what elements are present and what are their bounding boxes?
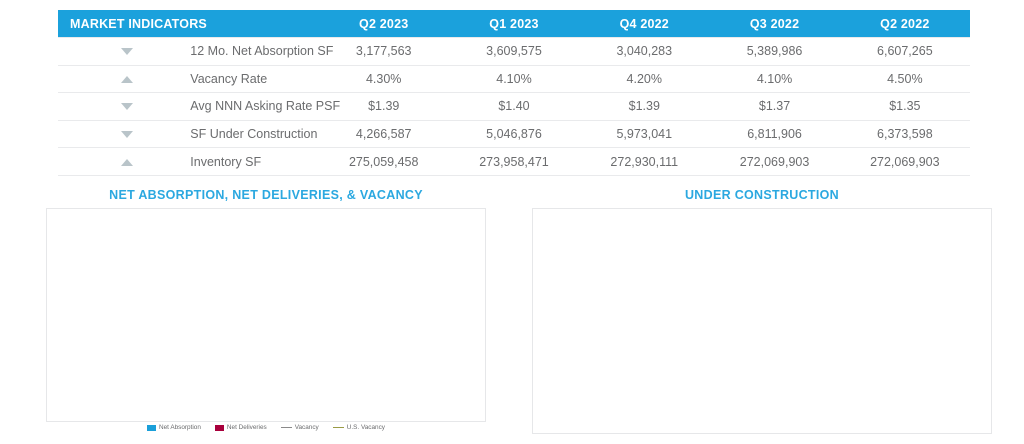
- row-value: 4.20%: [579, 65, 709, 93]
- legend-swatch-net-absorption: [147, 425, 156, 431]
- legend-line-us-vacancy: [333, 427, 344, 428]
- legend-label-us-vacancy: U.S. Vacancy: [347, 424, 385, 431]
- row-value: $1.39: [579, 93, 709, 121]
- chart-title-under-construction: UNDER CONSTRUCTION: [532, 188, 992, 202]
- under-construction-chart-panel: UNDER CONSTRUCTION 7,000,0006,000,0005,0…: [532, 188, 992, 436]
- row-value: 5,046,876: [449, 120, 579, 148]
- legend-item-net-absorption: Net Absorption: [147, 424, 201, 431]
- report-page: MARKET INDICATORS Q2 2023 Q1 2023 Q4 202…: [0, 0, 1024, 444]
- table-header-row: MARKET INDICATORS Q2 2023 Q1 2023 Q4 202…: [58, 10, 970, 38]
- legend-line-vacancy: [281, 427, 292, 428]
- legend-item-us-vacancy: U.S. Vacancy: [333, 424, 385, 431]
- row-value: 3,040,283: [579, 38, 709, 66]
- net-absorption-chart-panel: NET ABSORPTION, NET DELIVERIES, & VACANC…: [46, 188, 486, 440]
- trend-down-icon: [58, 38, 188, 66]
- row-label: Avg NNN Asking Rate PSF: [188, 93, 318, 121]
- row-value: 273,958,471: [449, 148, 579, 176]
- row-value: 4.10%: [449, 65, 579, 93]
- market-indicators-table: MARKET INDICATORS Q2 2023 Q1 2023 Q4 202…: [58, 10, 970, 176]
- row-value: 6,373,598: [840, 120, 970, 148]
- table-body: 12 Mo. Net Absorption SF3,177,5633,609,5…: [58, 38, 970, 176]
- column-header-q4-2022: Q4 2022: [579, 10, 709, 38]
- row-value: 4.30%: [319, 65, 449, 93]
- row-label: Inventory SF: [188, 148, 318, 176]
- chart-legend-left: Net Absorption Net Deliveries Vacancy U.…: [46, 424, 486, 431]
- table-row: SF Under Construction4,266,5875,046,8765…: [58, 120, 970, 148]
- row-value: $1.37: [709, 93, 839, 121]
- column-header-indicators: MARKET INDICATORS: [58, 10, 319, 38]
- row-value: 5,973,041: [579, 120, 709, 148]
- row-value: 4.50%: [840, 65, 970, 93]
- trend-down-icon: [58, 120, 188, 148]
- row-value: 272,069,903: [709, 148, 839, 176]
- row-value: 4.10%: [709, 65, 839, 93]
- chart-frame-right: [532, 208, 992, 434]
- row-value: 272,930,111: [579, 148, 709, 176]
- row-value: 3,177,563: [319, 38, 449, 66]
- row-value: 3,609,575: [449, 38, 579, 66]
- column-header-q2-2022: Q2 2022: [840, 10, 970, 38]
- legend-label-net-absorption: Net Absorption: [159, 424, 201, 431]
- row-value: 5,389,986: [709, 38, 839, 66]
- row-value: $1.35: [840, 93, 970, 121]
- chart-title-net-absorption: NET ABSORPTION, NET DELIVERIES, & VACANC…: [46, 188, 486, 202]
- column-header-q2-2023: Q2 2023: [319, 10, 449, 38]
- row-value: 6,607,265: [840, 38, 970, 66]
- legend-item-vacancy: Vacancy: [281, 424, 319, 431]
- row-value: 4,266,587: [319, 120, 449, 148]
- column-header-q1-2023: Q1 2023: [449, 10, 579, 38]
- legend-item-net-deliveries: Net Deliveries: [215, 424, 267, 431]
- legend-label-vacancy: Vacancy: [295, 424, 319, 431]
- legend-label-net-deliveries: Net Deliveries: [227, 424, 267, 431]
- row-value: $1.40: [449, 93, 579, 121]
- table-row: Vacancy Rate4.30%4.10%4.20%4.10%4.50%: [58, 65, 970, 93]
- legend-swatch-net-deliveries: [215, 425, 224, 431]
- column-header-q3-2022: Q3 2022: [709, 10, 839, 38]
- table-row: Inventory SF275,059,458273,958,471272,93…: [58, 148, 970, 176]
- row-value: 6,811,906: [709, 120, 839, 148]
- trend-down-icon: [58, 93, 188, 121]
- row-value: 272,069,903: [840, 148, 970, 176]
- row-label: Vacancy Rate: [188, 65, 318, 93]
- table-row: Avg NNN Asking Rate PSF$1.39$1.40$1.39$1…: [58, 93, 970, 121]
- table-row: 12 Mo. Net Absorption SF3,177,5633,609,5…: [58, 38, 970, 66]
- row-value: 275,059,458: [319, 148, 449, 176]
- trend-up-icon: [58, 65, 188, 93]
- row-label: 12 Mo. Net Absorption SF: [188, 38, 318, 66]
- trend-up-icon: [58, 148, 188, 176]
- row-label: SF Under Construction: [188, 120, 318, 148]
- chart-frame-left: [46, 208, 486, 422]
- table-header: MARKET INDICATORS Q2 2023 Q1 2023 Q4 202…: [58, 10, 970, 38]
